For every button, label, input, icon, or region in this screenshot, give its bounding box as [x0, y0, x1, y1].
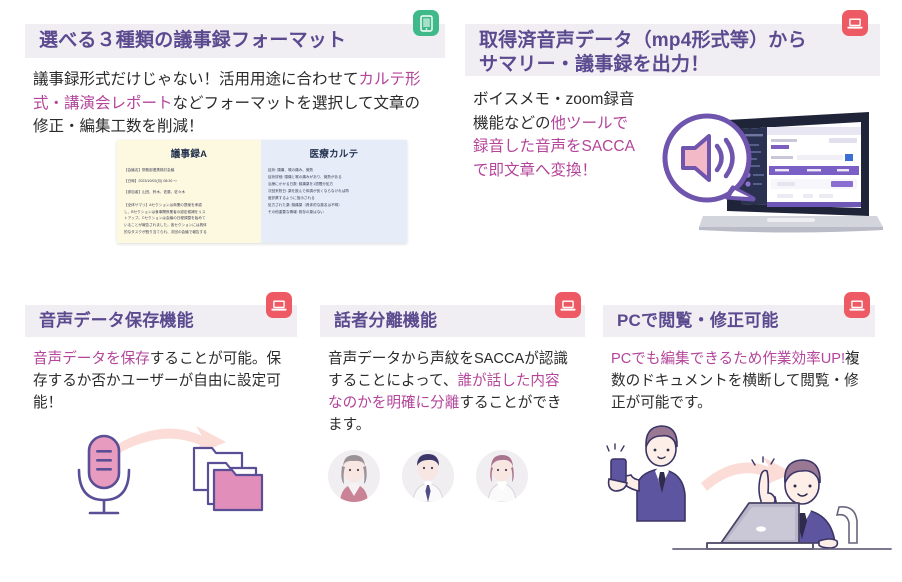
formats-text-seg1: 議事録形式だけじゃない！活用用途に合わせて: [33, 71, 359, 88]
people-phone-to-laptop-illustration: [603, 417, 893, 577]
avatar-woman-pink-hair-icon: [476, 450, 528, 502]
panel-formats-body: 議事録形式だけじゃない！活用用途に合わせてカルテ形式・講演会レポートなどフォーマ…: [25, 58, 445, 139]
panel-diarization-header: 話者分離機能: [320, 305, 585, 337]
laptop-icon: [847, 17, 863, 30]
panel-pc-body: PCでも編集できるため作業効率UP!複数のドキュメントを横断して閲覧・修正が可能…: [603, 337, 875, 415]
panel-pc-title: PCで閲覧・修正可能: [617, 310, 779, 332]
document-karte-line: 次回来院日: 薬を飲んで体調が良くならなければ再: [268, 188, 400, 195]
document-minutes-title: 議事録A: [124, 146, 254, 160]
panel-diarization-body: 音声データから声紋をSACCAが認識することによって、誰が話した内容なのかを明確…: [320, 337, 585, 437]
panel-storage-title: 音声データ保存機能: [39, 310, 194, 332]
panel-diarization: 話者分離機能 音声データから声紋をSACCAが認識することによって、誰が話した内…: [320, 305, 585, 437]
laptop-with-bubble-illustration: [655, 96, 885, 246]
microphone-to-folders-illustration: [60, 418, 290, 528]
panel-pc: PCで閲覧・修正可能 PCでも編集できるため作業効率UP!複数のドキュメントを横…: [603, 305, 875, 415]
laptop-icon: [271, 299, 287, 312]
document-karte-line: 症状詳細: 頭痛と喉の痛みがあり、微熱がある: [268, 174, 400, 181]
panel-pc-header: PCで閲覧・修正可能: [603, 305, 875, 337]
document-karte-line: その他重要な情報: 既存の薬はない: [268, 209, 400, 216]
panel-formats-title: 選べる３種類の議事録フォーマット: [39, 29, 346, 53]
pc-text-highlight: PCでも編集できるため作業効率UP!: [611, 351, 845, 367]
diarization-illustration: [328, 450, 528, 502]
laptop-badge-pc: [844, 292, 870, 318]
panel-summary-header: 取得済音声データ（mp4形式等）から サマリー・議事録を出力！: [465, 24, 880, 76]
document-minutes-summary-line: し、Bセクションは食事関係業者の認定候補をリス: [124, 209, 254, 216]
document-karte-line: 度診察するように指示される: [268, 195, 400, 202]
document-preview: 議事録A 【会議名】院務部連携検討会議 【日時】2023/10/02(月) 08…: [117, 140, 407, 243]
document-karte-line: 処方された薬: 鎮痛薬（具体的な薬名は不明）: [268, 202, 400, 209]
laptop-badge-summary: [842, 10, 868, 36]
person-with-phone-graphic: [607, 426, 685, 521]
document-minutes-summary-line: 【全体サマリ】Aセクションは商業の提案を承認: [124, 202, 254, 209]
panel-formats-header: 選べる３種類の議事録フォーマット: [25, 24, 445, 58]
laptop-graphic: [707, 503, 813, 549]
laptop-icon: [849, 299, 865, 312]
document-karte-line: 症状: 頭痛、喉の痛み、微熱: [268, 167, 400, 174]
panel-diarization-title: 話者分離機能: [334, 310, 437, 332]
document-minutes-line: 【日時】2023/10/02(月) 08:30 ～: [124, 178, 254, 185]
panel-storage: 音声データ保存機能 音声データを保存することが可能。保存するか否かユーザーが自由…: [25, 305, 297, 415]
panel-formats: 選べる３種類の議事録フォーマット 議事録形式だけじゃない！活用用途に合わせてカル…: [25, 24, 445, 139]
document-minutes-summary-line: いることが報告されました。各セクションには具体: [124, 222, 254, 229]
panel-storage-header: 音声データ保存機能: [25, 305, 297, 337]
smartphone-icon: [420, 15, 433, 32]
laptop-icon: [560, 299, 576, 312]
document-minutes-summary: 【全体サマリ】Aセクションは商業の提案を承認 し、Bセクションは食事関係業者の認…: [124, 202, 254, 235]
storage-text-highlight: 音声データを保存: [33, 351, 150, 367]
speaker-avatar: [328, 450, 380, 502]
summary-text-line2-highlight: 他ツールで: [551, 115, 629, 132]
document-card-minutes: 議事録A 【会議名】院務部連携検討会議 【日時】2023/10/02(月) 08…: [117, 140, 261, 243]
summary-text-line2-plain: 機能などの: [473, 115, 551, 132]
document-minutes-line: 【会議名】院務部連携検討会議: [124, 167, 254, 174]
folders-icon: [194, 448, 262, 510]
document-karte-title: 医療カルテ: [268, 146, 400, 160]
panel-summary-title-line1: 取得済音声データ（mp4形式等）から: [479, 29, 807, 53]
avatar-woman-gray-hair-icon: [328, 450, 380, 502]
flow-arrow-icon: [701, 457, 793, 491]
document-minutes-summary-line: トアップ。Cセクションは会議の日程調整を始めて: [124, 215, 254, 222]
panel-summary-title-line2: サマリー・議事録を出力！: [479, 53, 807, 77]
storage-illustration: [60, 418, 290, 533]
summary-illustration: [655, 96, 885, 246]
document-minutes-line: 【参加者】山田、鈴木、佐藤、佐々木: [124, 189, 254, 196]
panel-storage-body: 音声データを保存することが可能。保存するか否かユーザーが自由に設定可能！: [25, 337, 297, 415]
document-karte-line: 治療にかかる日数: 鎮痛薬を1週間分処方: [268, 181, 400, 188]
smartphone-badge: [413, 10, 439, 36]
speaker-avatar: [402, 450, 454, 502]
speaker-avatar: [476, 450, 528, 502]
pc-illustration: [603, 417, 893, 582]
panel-summary: 取得済音声データ（mp4形式等）から サマリー・議事録を出力！ ボイスメモ・zo…: [465, 24, 880, 182]
document-minutes-summary-line: 的なタスクが割り当てられ、次回の会議で報告する: [124, 229, 254, 236]
document-card-karte: 医療カルテ 症状: 頭痛、喉の痛み、微熱 症状詳細: 頭痛と喉の痛みがあり、微熱…: [261, 140, 407, 243]
laptop-badge-storage: [266, 292, 292, 318]
avatar-man-suit-icon: [402, 450, 454, 502]
laptop-badge-diarization: [555, 292, 581, 318]
